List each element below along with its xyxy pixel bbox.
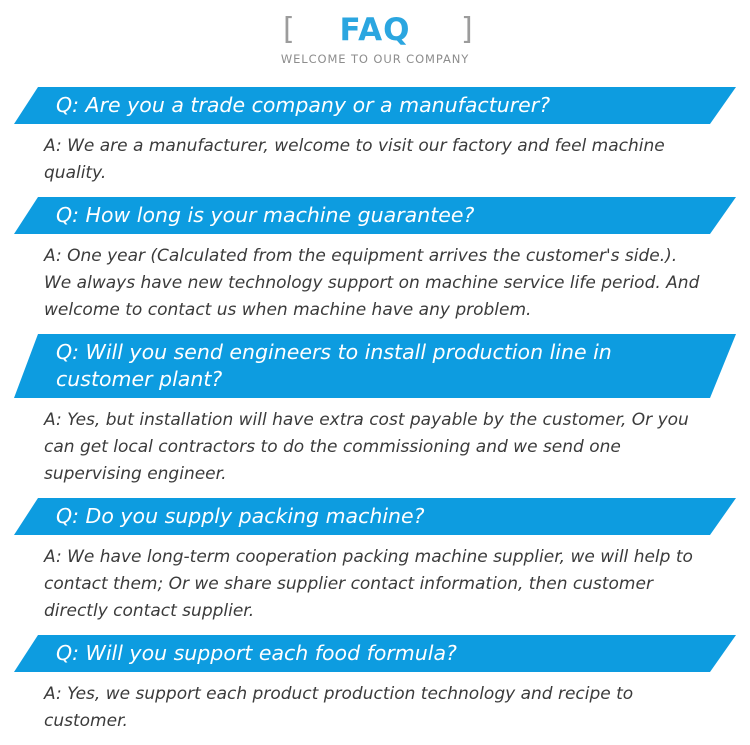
answer-text: A: We are a manufacturer, welcome to vis… [0, 124, 750, 197]
page-title: FAQ [340, 11, 411, 49]
question-banner[interactable]: Q: How long is your machine guarantee? [14, 197, 736, 234]
question-banner[interactable]: Q: Will you support each food formula? [14, 635, 736, 672]
question-banner[interactable]: Q: Will you send engineers to install pr… [14, 334, 736, 398]
question-text: Q: Will you send engineers to install pr… [56, 339, 680, 393]
left-bracket-icon: [ [283, 15, 295, 45]
faq-item: Q: Will you support each food formula? A… [0, 635, 750, 745]
faq-item: Q: Are you a trade company or a manufact… [0, 87, 750, 197]
answer-text: A: We have long-term cooperation packing… [0, 535, 750, 635]
faq-item: Q: How long is your machine guarantee? A… [0, 197, 750, 334]
page-subtitle: WELCOME TO OUR COMPANY [0, 52, 750, 66]
right-bracket-icon: ] [461, 15, 473, 45]
question-text: Q: How long is your machine guarantee? [56, 202, 680, 229]
title-row: [ FAQ ] [0, 11, 750, 49]
faq-list: Q: Are you a trade company or a manufact… [0, 87, 750, 745]
faq-page: [ FAQ ] WELCOME TO OUR COMPANY Q: Are yo… [0, 0, 750, 736]
question-text: Q: Do you supply packing machine? [56, 503, 680, 530]
page-header: [ FAQ ] WELCOME TO OUR COMPANY [0, 0, 750, 66]
question-banner[interactable]: Q: Do you supply packing machine? [14, 498, 736, 535]
answer-text: A: Yes, but installation will have extra… [0, 398, 750, 498]
faq-item: Q: Do you supply packing machine? A: We … [0, 498, 750, 635]
answer-text: A: Yes, we support each product producti… [0, 672, 750, 745]
faq-item: Q: Will you send engineers to install pr… [0, 334, 750, 498]
question-banner[interactable]: Q: Are you a trade company or a manufact… [14, 87, 736, 124]
question-text: Q: Are you a trade company or a manufact… [56, 92, 680, 119]
answer-text: A: One year (Calculated from the equipme… [0, 234, 750, 334]
question-text: Q: Will you support each food formula? [56, 640, 680, 667]
